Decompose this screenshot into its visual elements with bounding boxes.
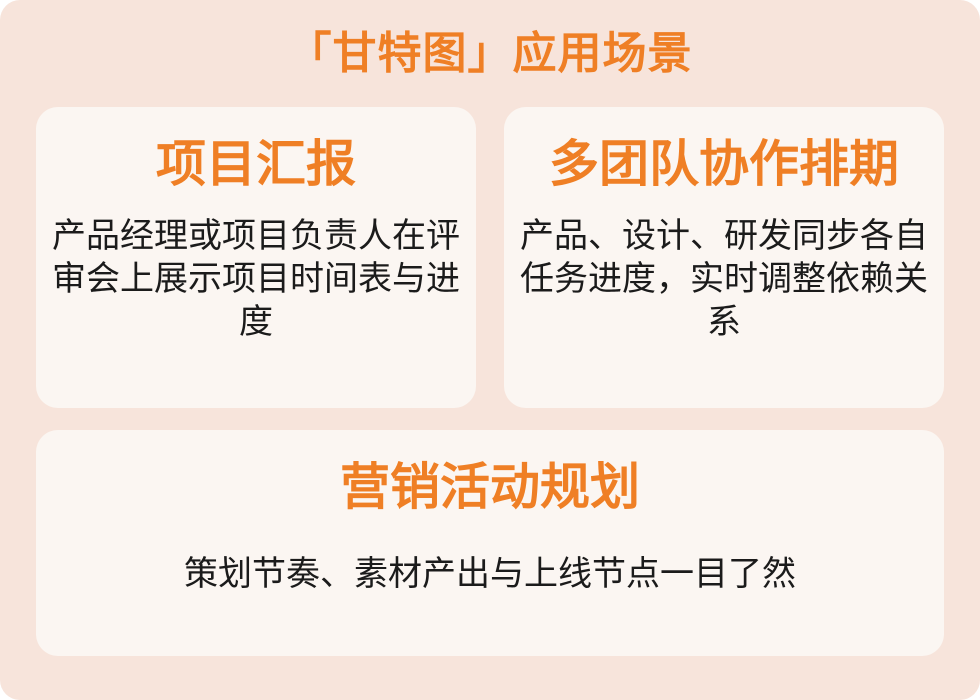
scenario-card-grid: 项目汇报 产品经理或项目负责人在评审会上展示项目时间表与进度 多团队协作排期 产…: [0, 107, 980, 656]
scenario-card-body: 产品经理或项目负责人在评审会上展示项目时间表与进度: [50, 215, 462, 344]
scenario-card-marketing-planning[interactable]: 营销活动规划 策划节奏、素材产出与上线节点一目了然: [36, 430, 944, 656]
scenario-card-title: 项目汇报: [156, 138, 356, 191]
scenario-card-project-report[interactable]: 项目汇报 产品经理或项目负责人在评审会上展示项目时间表与进度: [36, 107, 476, 408]
scenario-card-body: 策划节奏、素材产出与上线节点一目了然: [184, 553, 796, 596]
scenario-card-title: 多团队协作排期: [549, 138, 899, 191]
poster-container: 「甘特图」应用场景 项目汇报 产品经理或项目负责人在评审会上展示项目时间表与进度…: [0, 0, 980, 700]
scenario-card-team-scheduling[interactable]: 多团队协作排期 产品、设计、研发同步各自任务进度，实时调整依赖关系: [504, 107, 944, 408]
card-row-top: 项目汇报 产品经理或项目负责人在评审会上展示项目时间表与进度 多团队协作排期 产…: [36, 107, 944, 408]
scenario-card-title: 营销活动规划: [340, 461, 640, 514]
scenario-card-body: 产品、设计、研发同步各自任务进度，实时调整依赖关系: [518, 215, 930, 344]
page-title: 「甘特图」应用场景: [0, 32, 980, 76]
card-row-bottom: 营销活动规划 策划节奏、素材产出与上线节点一目了然: [36, 430, 944, 656]
